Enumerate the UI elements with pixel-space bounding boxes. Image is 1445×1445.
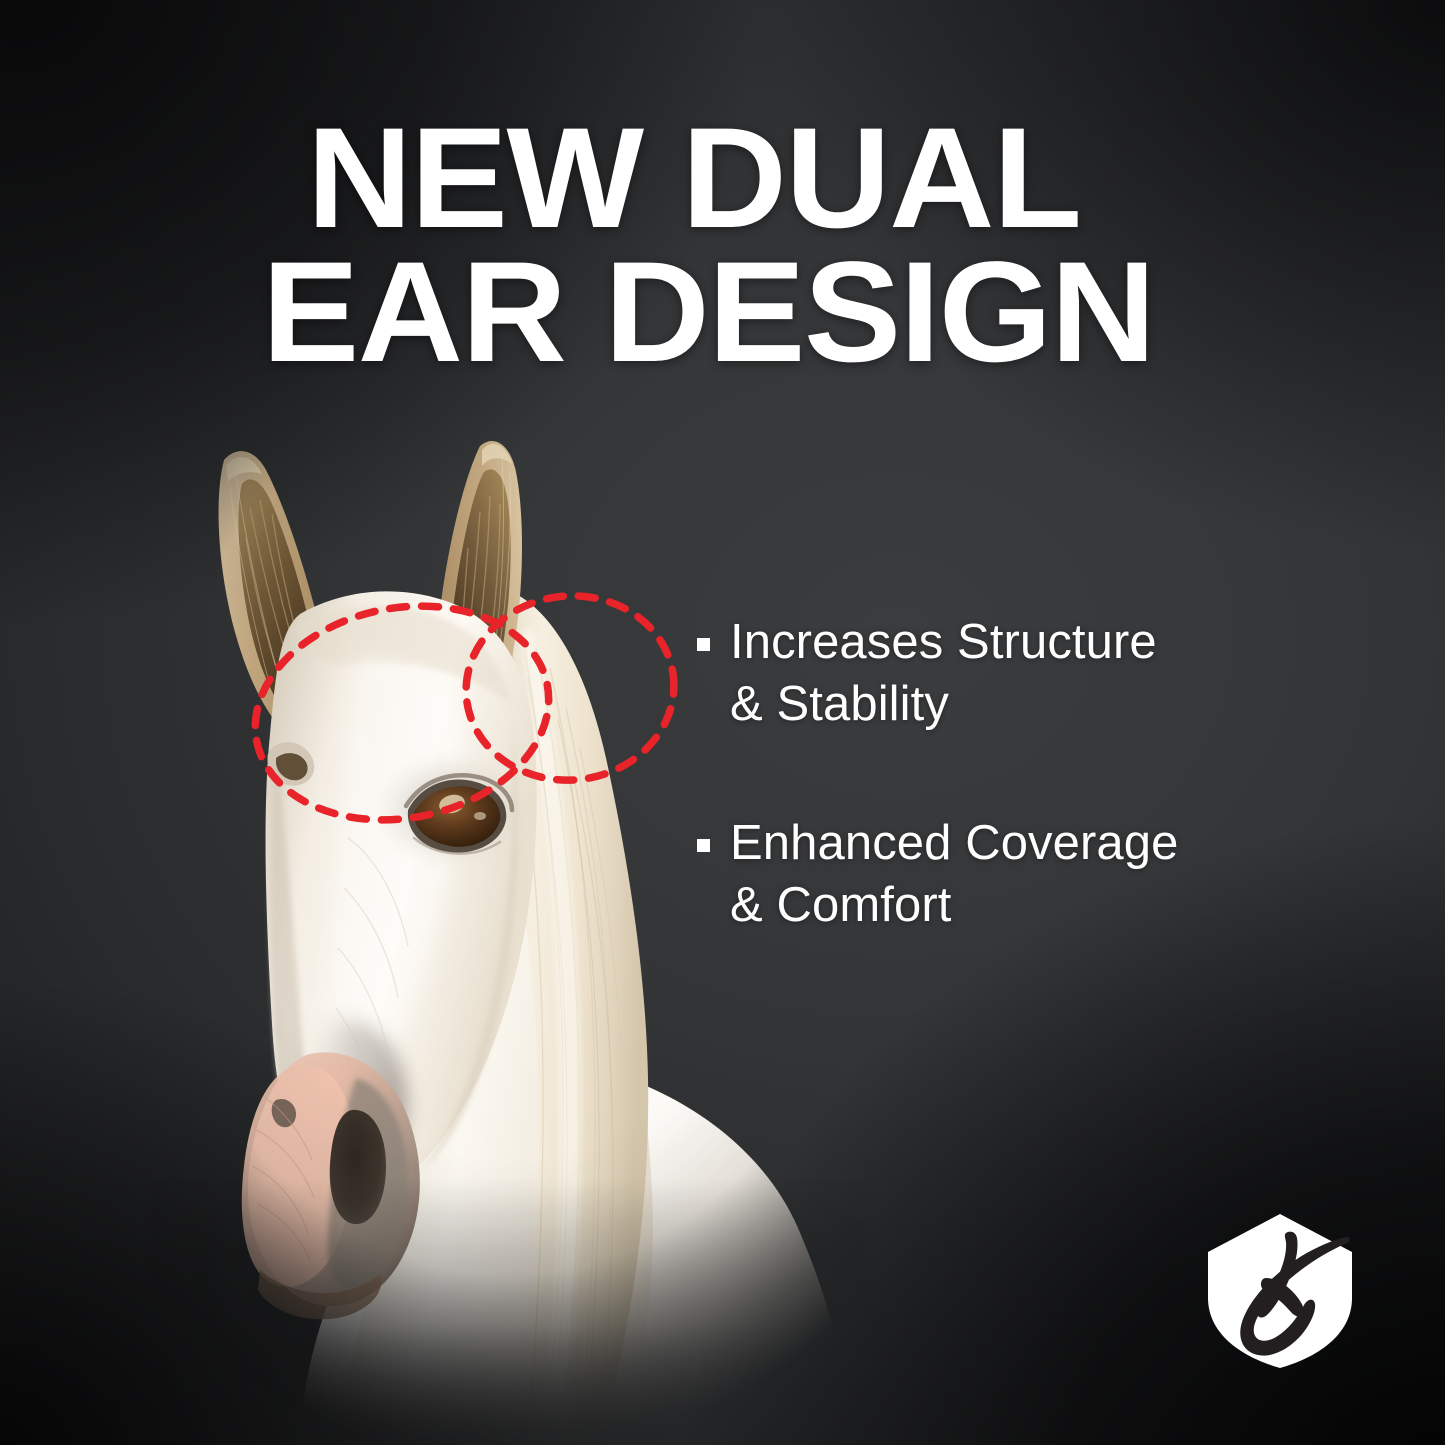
feature-text: Enhanced Coverage & Comfort (730, 813, 1178, 936)
list-item: Increases Structure & Stability (697, 612, 1357, 735)
square-bullet-icon (697, 638, 710, 651)
square-bullet-icon (697, 839, 710, 852)
feature-list: Increases Structure & Stability Enhanced… (697, 612, 1357, 937)
feature-line-1: Enhanced Coverage (730, 816, 1178, 870)
feature-line-2: & Stability (730, 677, 949, 731)
feature-line-1: Increases Structure (730, 615, 1157, 669)
headline-line-1: NEW DUAL (262, 112, 1241, 246)
list-item: Enhanced Coverage & Comfort (697, 813, 1357, 936)
promo-graphic: NEW DUAL EAR DESIGN (0, 0, 1445, 1445)
brand-logo (1204, 1212, 1356, 1370)
headline: NEW DUAL EAR DESIGN (262, 112, 1241, 379)
feature-line-2: & Comfort (730, 878, 951, 932)
feature-text: Increases Structure & Stability (730, 612, 1157, 735)
headline-line-2: EAR DESIGN (262, 246, 1241, 380)
